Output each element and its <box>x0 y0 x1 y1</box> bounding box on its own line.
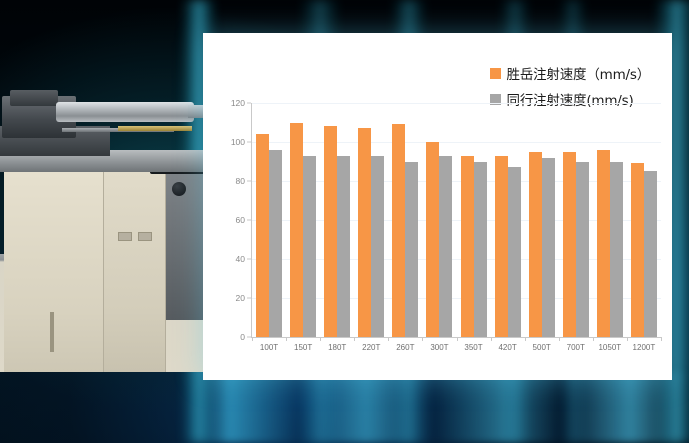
bar-series-2[interactable] <box>542 158 555 337</box>
x-axis-tick-mark <box>491 337 492 341</box>
bar-series-1[interactable] <box>392 124 405 337</box>
bar-groups <box>252 103 661 337</box>
x-axis-tick-label: 1050T <box>593 343 627 352</box>
bar-series-2[interactable] <box>269 150 282 337</box>
slide-canvas: 胜岳注射速度（mm/s） 同行注射速度(mm/s) 02040608010012… <box>0 0 689 443</box>
y-axis-labels: 020406080100120 <box>225 103 251 337</box>
x-axis-tick-mark <box>661 337 662 341</box>
x-axis-tick-label: 420T <box>491 343 525 352</box>
y-axis-tick-label: 120 <box>231 98 245 108</box>
x-axis-tick-mark <box>422 337 423 341</box>
x-axis-tick-label: 1200T <box>627 343 661 352</box>
machine-cabinet-left <box>4 172 104 372</box>
x-axis-tick-mark <box>388 337 389 341</box>
lower-light-glow <box>200 372 689 443</box>
machine-cabinet-right <box>104 172 166 372</box>
bar-group[interactable] <box>388 103 422 337</box>
bar-group[interactable] <box>593 103 627 337</box>
x-axis-tick-mark <box>525 337 526 341</box>
y-axis-tick-label: 60 <box>236 215 245 225</box>
x-axis-tick-label: 260T <box>388 343 422 352</box>
bar-series-2[interactable] <box>644 171 657 337</box>
bar-series-1[interactable] <box>597 150 610 337</box>
machine-knob <box>172 182 186 196</box>
legend-item: 胜岳注射速度（mm/s） <box>490 63 650 83</box>
bar-series-1[interactable] <box>563 152 576 337</box>
x-axis-tick-mark <box>252 337 253 341</box>
cabinet-vent <box>138 232 152 241</box>
bar-group[interactable] <box>286 103 320 337</box>
x-axis-tick-mark <box>559 337 560 341</box>
bar-group[interactable] <box>559 103 593 337</box>
bar-series-1[interactable] <box>358 128 371 337</box>
bar-series-2[interactable] <box>508 167 521 337</box>
x-axis-tick-mark <box>320 337 321 341</box>
y-axis-tick-label: 20 <box>236 293 245 303</box>
bar-series-1[interactable] <box>495 156 508 337</box>
machine-barrel <box>56 102 194 122</box>
x-axis-tick-mark <box>457 337 458 341</box>
chart-panel: 胜岳注射速度（mm/s） 同行注射速度(mm/s) 02040608010012… <box>203 33 672 380</box>
x-axis-tick-mark <box>593 337 594 341</box>
bar-series-1[interactable] <box>256 134 269 337</box>
bar-series-1[interactable] <box>529 152 542 337</box>
bar-group[interactable] <box>627 103 661 337</box>
cabinet-vent <box>118 232 132 241</box>
x-axis-tick-mark <box>286 337 287 341</box>
x-axis-tick-label: 500T <box>525 343 559 352</box>
bar-series-1[interactable] <box>426 142 439 337</box>
plot-area: 020406080100120 100T150T180T220T260T300T… <box>225 103 661 359</box>
bar-series-2[interactable] <box>474 162 487 338</box>
bar-series-1[interactable] <box>290 123 303 338</box>
y-axis-tick-label: 0 <box>240 332 245 342</box>
x-axis-tick-mark <box>354 337 355 341</box>
cabinet-handle <box>50 312 54 352</box>
x-axis-tick-label: 180T <box>320 343 354 352</box>
bar-group[interactable] <box>320 103 354 337</box>
x-axis-tick-label: 350T <box>456 343 490 352</box>
bar-series-1[interactable] <box>324 126 337 337</box>
bar-series-2[interactable] <box>303 156 316 337</box>
bars-region <box>252 103 661 337</box>
x-axis-labels: 100T150T180T220T260T300T350T420T500T700T… <box>252 343 661 352</box>
bar-group[interactable] <box>354 103 388 337</box>
x-axis-tick-label: 700T <box>559 343 593 352</box>
bar-series-1[interactable] <box>631 163 644 337</box>
machine-body-top <box>10 90 58 106</box>
legend-label: 胜岳注射速度（mm/s） <box>507 63 650 83</box>
bar-series-2[interactable] <box>337 156 350 337</box>
bar-series-2[interactable] <box>439 156 452 337</box>
bar-group[interactable] <box>491 103 525 337</box>
machine-photo <box>0 92 214 372</box>
machine-brass-rod <box>118 126 192 131</box>
y-axis-tick-label: 40 <box>236 254 245 264</box>
bar-group[interactable] <box>525 103 559 337</box>
bar-series-1[interactable] <box>461 156 474 337</box>
x-axis-tick-label: 220T <box>354 343 388 352</box>
x-axis-tick-mark <box>627 337 628 341</box>
x-axis-tick-label: 150T <box>286 343 320 352</box>
bar-series-2[interactable] <box>610 162 623 338</box>
bar-group[interactable] <box>252 103 286 337</box>
y-axis-tick-label: 80 <box>236 176 245 186</box>
bar-group[interactable] <box>422 103 456 337</box>
y-axis-tick-label: 100 <box>231 137 245 147</box>
bar-series-2[interactable] <box>371 156 384 337</box>
x-axis-tick-label: 100T <box>252 343 286 352</box>
bar-series-2[interactable] <box>576 162 589 338</box>
legend-swatch-orange-icon <box>490 68 501 79</box>
x-axis-tick-label: 300T <box>422 343 456 352</box>
bar-group[interactable] <box>456 103 490 337</box>
bar-series-2[interactable] <box>405 162 418 338</box>
